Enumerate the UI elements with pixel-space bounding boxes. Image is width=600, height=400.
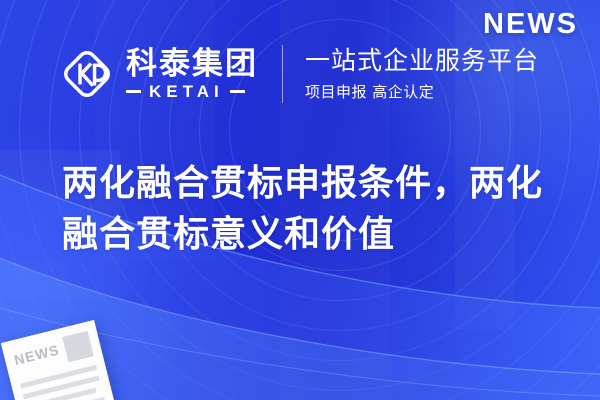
newspaper-thumbnail [62, 331, 94, 363]
slogan-block: 一站式企业服务平台 项目申报 高企认定 [305, 46, 539, 103]
news-banner: 科泰集团 KETAI 一站式企业服务平台 项目申报 高企认定 NEWS 两化融合… [0, 0, 600, 400]
newspaper-heading: NEWS [12, 337, 67, 367]
logo-dash-right [230, 90, 245, 93]
slogan-main: 一站式企业服务平台 [305, 46, 539, 76]
banner-header: 科泰集团 KETAI 一站式企业服务平台 项目申报 高企认定 [58, 38, 539, 110]
logo-wordmark: 科泰集团 KETAI [126, 48, 258, 101]
logo-dash-left [126, 90, 141, 93]
logo-name-en-row: KETAI [126, 83, 258, 100]
header-divider [282, 45, 283, 103]
logo-name-cn: 科泰集团 [126, 48, 258, 81]
news-label: NEWS [483, 8, 578, 41]
logo-name-en: KETAI [141, 83, 230, 100]
ketai-logo-icon [58, 45, 116, 103]
article-title: 两化融合贯标申报条件，两化融合贯标意义和价值 [62, 158, 562, 260]
slogan-sub: 项目申报 高企认定 [305, 81, 539, 102]
